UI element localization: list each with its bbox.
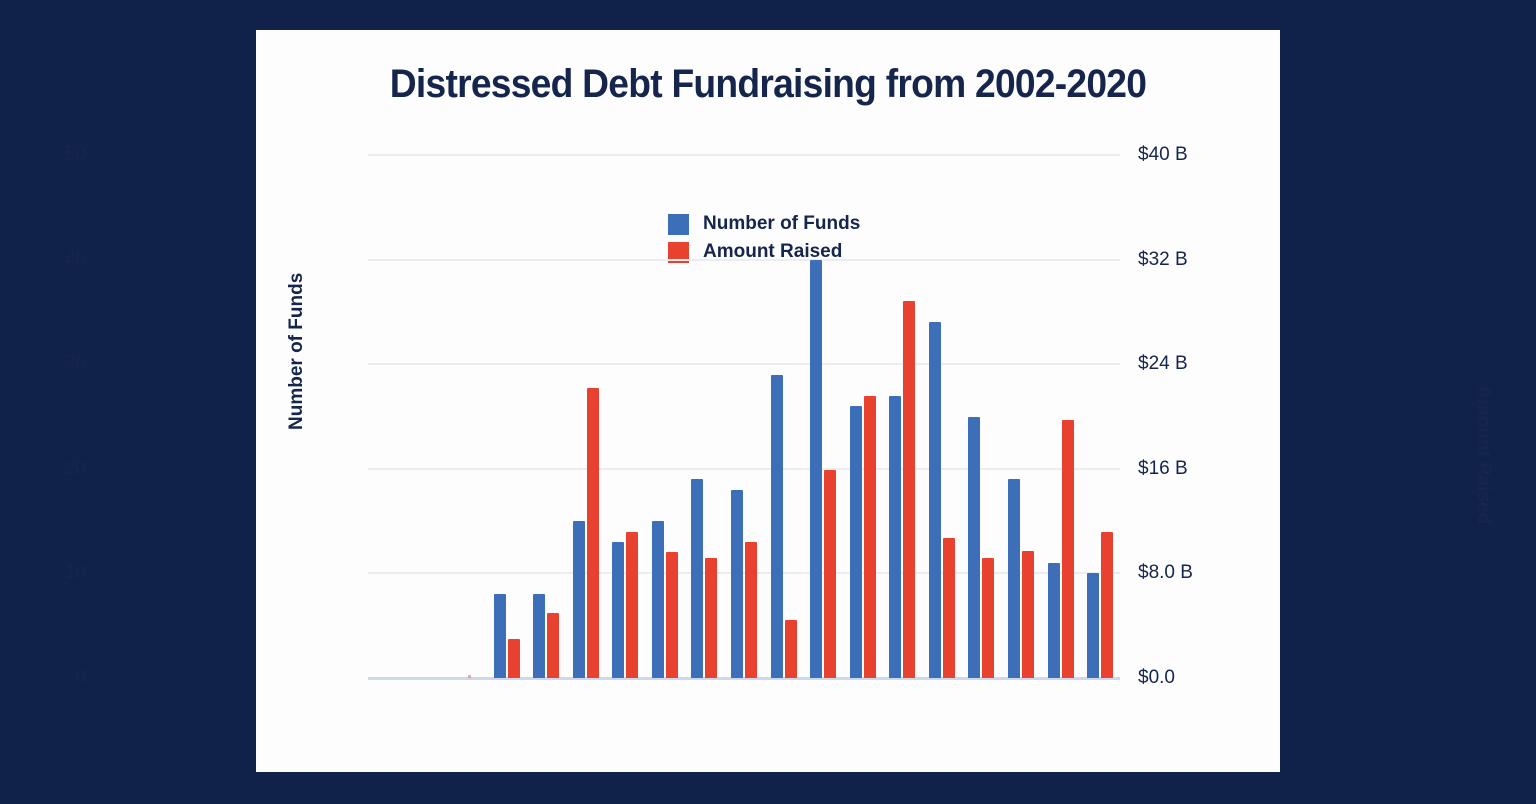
- bar-amount-raised: [1022, 551, 1034, 678]
- bar-number-of-funds: [533, 594, 545, 678]
- bar-amount-raised: [943, 538, 955, 678]
- bar-amount-raised: [745, 542, 757, 678]
- bar-amount-raised: [785, 620, 797, 678]
- bar-number-of-funds: [810, 260, 822, 678]
- y-axis-right-tick: $8.0 B: [1138, 562, 1248, 584]
- bar-number-of-funds: [1048, 563, 1060, 678]
- slide-background: Distressed Debt Fundraising from 2002-20…: [0, 0, 1536, 804]
- y-axis-left-tick: 30: [26, 353, 86, 375]
- bar-amount-raised: [626, 532, 638, 678]
- bar-number-of-funds: [1008, 479, 1020, 678]
- y-axis-right-title: Amount Raised: [1472, 385, 1494, 524]
- bar-amount-raised: [666, 552, 678, 678]
- y-axis-left-tick: 40: [26, 249, 86, 271]
- gridline: [368, 468, 1120, 470]
- gridline: [368, 363, 1120, 365]
- bar-number-of-funds: [612, 542, 624, 678]
- y-axis-right-tick: $0.0: [1138, 667, 1248, 689]
- bar-amount-raised: [903, 301, 915, 678]
- bar-number-of-funds: [968, 417, 980, 679]
- bar-amount-raised: [864, 396, 876, 678]
- bar-amount-raised: [587, 388, 599, 678]
- bar-number-of-funds: [494, 594, 506, 678]
- bar-number-of-funds: [731, 490, 743, 678]
- chart-card: Distressed Debt Fundraising from 2002-20…: [256, 30, 1280, 772]
- y-axis-left-tick: 20: [26, 458, 86, 480]
- bar-number-of-funds: [889, 396, 901, 678]
- gridline: [368, 259, 1120, 261]
- bar-amount-raised: [468, 675, 471, 678]
- y-axis-right-tick: $16 B: [1138, 458, 1248, 480]
- bar-number-of-funds: [573, 521, 585, 678]
- y-axis-left-tick: 0: [26, 667, 86, 689]
- bar-amount-raised: [508, 639, 520, 678]
- y-axis-right-tick: $32 B: [1138, 249, 1248, 271]
- y-axis-left-tick: 10: [26, 562, 86, 584]
- bar-number-of-funds: [691, 479, 703, 678]
- bar-amount-raised: [1062, 420, 1074, 678]
- y-axis-right-tick: $40 B: [1138, 144, 1248, 166]
- bar-number-of-funds: [850, 406, 862, 678]
- bar-number-of-funds: [771, 375, 783, 678]
- bar-number-of-funds: [929, 322, 941, 678]
- bar-number-of-funds: [1087, 573, 1099, 678]
- plot-area: 0$0.010$8.0 B20$16 B30$24 B40$32 B50$40 …: [368, 155, 1120, 678]
- y-axis-left-tick: 50: [26, 144, 86, 166]
- y-axis-left-title: Number of Funds: [286, 273, 308, 430]
- bar-amount-raised: [705, 558, 717, 678]
- bar-amount-raised: [982, 558, 994, 678]
- bar-amount-raised: [547, 613, 559, 678]
- bar-amount-raised: [824, 470, 836, 678]
- gridline: [368, 154, 1120, 156]
- bar-number-of-funds: [652, 521, 664, 678]
- y-axis-right-tick: $24 B: [1138, 353, 1248, 375]
- bar-amount-raised: [1101, 532, 1113, 678]
- page-title: Distressed Debt Fundraising from 2002-20…: [292, 62, 1244, 107]
